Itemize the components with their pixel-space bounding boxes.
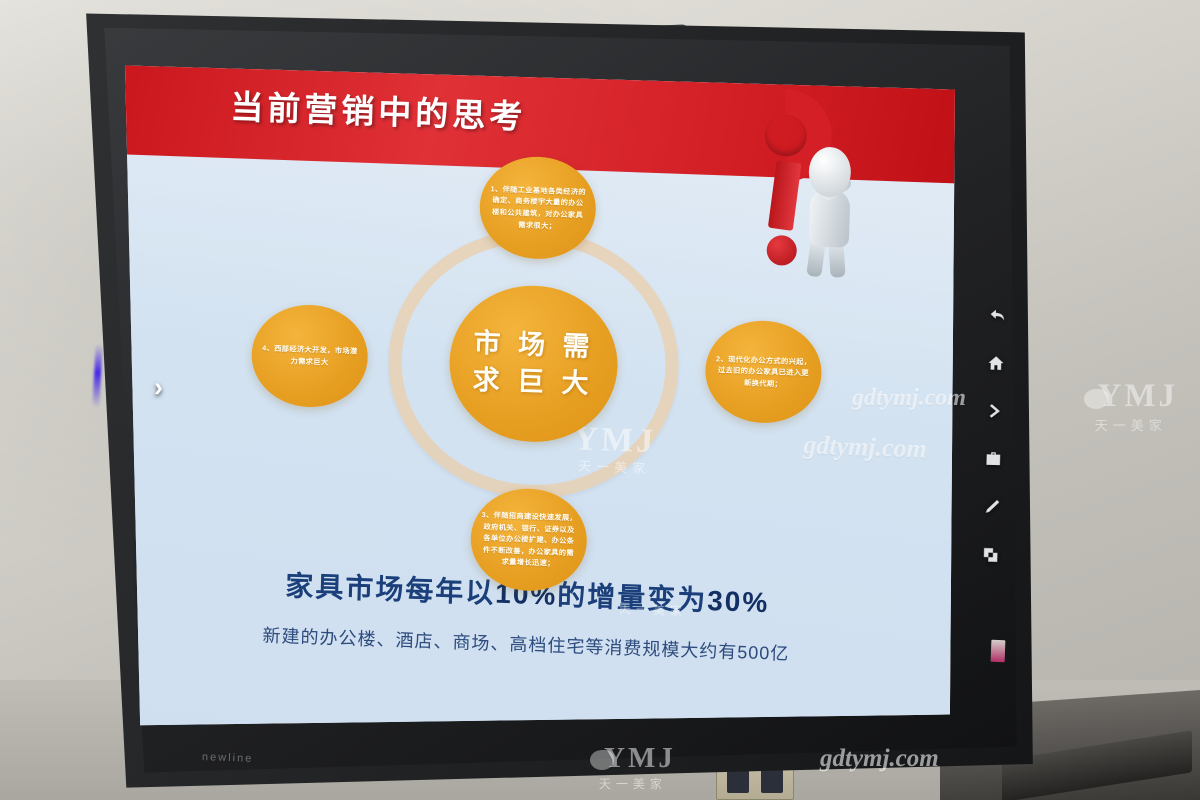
diagram-node-2[interactable]: 2、现代化办公方式的兴起，过去旧的办公家具已进入更新换代期；	[704, 319, 823, 425]
page-title: 当前营销中的思考	[230, 80, 527, 138]
headline-part-1: 家具市场每年以	[285, 570, 496, 608]
toolbox-icon[interactable]	[982, 448, 1005, 471]
center-node-line-1: 市 场 需	[473, 324, 595, 365]
power-led-indicator	[92, 344, 102, 408]
cycle-diagram: 1、伴随工业基地各类经济的确定、商务楼宇大量的办公楼和公共建筑，对办公家具需求很…	[120, 154, 960, 574]
center-node-line-2: 求 巨 大	[472, 362, 594, 403]
interactive-display: 1 当前营销中的思考 1、伴随工业基地各类经济的确定、商务楼宇大量的办公楼和公共…	[62, 4, 1067, 794]
slide-subheadline: 新建的办公楼、酒店、商场、高档住宅等消费规模大约有500亿	[120, 616, 954, 672]
pen-icon[interactable]	[981, 496, 1004, 519]
headline-part-2: 的增量变为	[557, 580, 708, 616]
display-screen[interactable]: 1 当前营销中的思考 1、伴随工业基地各类经济的确定、商务楼宇大量的办公楼和公共…	[120, 56, 960, 728]
bezel-sticker	[991, 640, 1006, 662]
sidebar-toggle-left[interactable]: ›	[153, 372, 163, 403]
diagram-node-4[interactable]: 4、西部经济大开发，市场潜力需求巨大	[250, 303, 369, 409]
display-brand-logo: newline	[202, 751, 254, 765]
screenshot-icon[interactable]	[979, 544, 1002, 567]
chevron-right-icon[interactable]	[983, 400, 1006, 423]
home-icon[interactable]	[985, 352, 1008, 375]
headline-stat-30pct: 30%	[707, 585, 770, 618]
slide-canvas: 1 当前营销中的思考 1、伴随工业基地各类经济的确定、商务楼宇大量的办公楼和公共…	[120, 56, 960, 728]
back-arrow-icon[interactable]	[986, 304, 1009, 327]
